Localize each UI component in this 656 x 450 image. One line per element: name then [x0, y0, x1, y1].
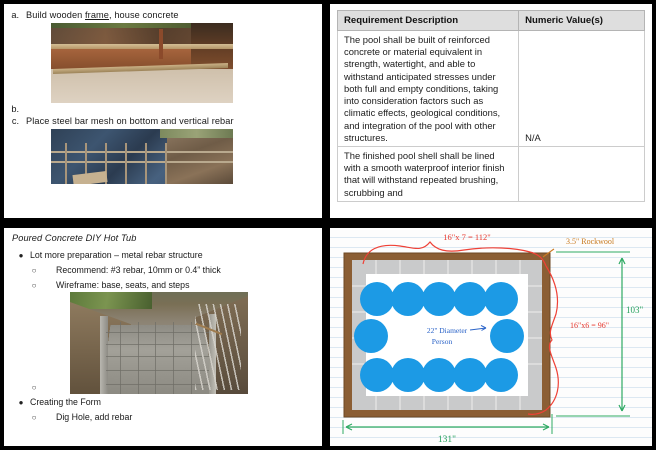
- tub-diagram-svg: 22" Diameter Person 16"x 7 = 112" 16"x6 …: [330, 228, 652, 446]
- person-circle: [453, 282, 487, 316]
- step-letter-a: a.: [4, 10, 26, 20]
- frame-underlined-word: frame: [85, 10, 109, 20]
- person-circle: [354, 319, 388, 353]
- bullet-recommend-rebar: Recommend: #3 rebar, 10mm or 0.4” thick: [12, 262, 314, 277]
- bullet-label: Wireframe: base, seats, and steps: [56, 280, 189, 290]
- requirements-table: Requirement Description Numeric Value(s)…: [337, 10, 645, 202]
- column-header-requirement-description: Requirement Description: [338, 11, 519, 31]
- person-circle: [453, 358, 487, 392]
- step-letter-b: b.: [4, 104, 26, 114]
- bullet-label: Creating the Form: [30, 397, 101, 407]
- bullet-circle-icon: [12, 281, 56, 290]
- cell-requirement-description: The pool shall be built of reinforced co…: [338, 31, 519, 147]
- rebar-wireframe-trench-photo: [70, 292, 248, 394]
- person-circle: [490, 319, 524, 353]
- bullet-creating-the-form: Creating the Form: [12, 394, 314, 409]
- cell-numeric-value: N/A: [519, 31, 645, 147]
- table-row: The pool shall be built of reinforced co…: [338, 31, 645, 147]
- horizontal-divider: [0, 218, 656, 228]
- bullet-lot-more-preparation: Lot more preparation – metal rebar struc…: [12, 247, 314, 262]
- bullet-label: Lot more preparation – metal rebar struc…: [30, 250, 203, 260]
- annotation-right-red-label: 16"x6 = 96": [570, 321, 609, 330]
- steps-slide-panel: a. Build wooden frame, house concrete b.…: [4, 4, 322, 218]
- hot-tub-slide-panel: Poured Concrete DIY Hot Tub Lot more pre…: [4, 228, 322, 446]
- person-circle: [484, 282, 518, 316]
- bullet-disc-icon: [12, 251, 30, 260]
- bullet-circle-icon: [12, 383, 56, 392]
- annotation-person-diameter-line1: 22" Diameter: [427, 326, 468, 335]
- step-text-a: Build wooden frame, house concrete: [26, 10, 322, 20]
- person-circle: [360, 282, 394, 316]
- person-circle: [391, 282, 425, 316]
- annotation-top-red-label: 16"x 7 = 112": [443, 232, 491, 242]
- step-row-a: a. Build wooden frame, house concrete: [4, 4, 322, 23]
- step-letter-c: c.: [4, 116, 26, 126]
- annotation-width-131: 131": [438, 435, 456, 445]
- bullet-circle-icon: [12, 266, 56, 275]
- person-circle: [360, 358, 394, 392]
- person-circle: [422, 358, 456, 392]
- bullet-disc-icon: [12, 398, 30, 407]
- table-row: The finished pool shell shall be lined w…: [338, 146, 645, 201]
- cell-numeric-value: [519, 146, 645, 201]
- annotation-rockwool-label: 3.5" Rockwool: [566, 237, 615, 246]
- cell-requirement-description: The finished pool shell shall be lined w…: [338, 146, 519, 201]
- step-row-b: b.: [4, 103, 322, 114]
- person-circle: [391, 358, 425, 392]
- slide-title: Poured Concrete DIY Hot Tub: [12, 233, 314, 247]
- hot-tub-layout-diagram-panel: 22" Diameter Person 16"x 7 = 112" 16"x6 …: [330, 228, 652, 446]
- step-text-c: Place steel bar mesh on bottom and verti…: [26, 116, 322, 126]
- bullet-dig-hole: Dig Hole, add rebar: [12, 409, 314, 424]
- person-circle: [422, 282, 456, 316]
- person-circle: [484, 358, 518, 392]
- annotation-person-diameter-line2: Person: [432, 337, 453, 346]
- bullet-circle-icon: [12, 413, 56, 422]
- table-header-row: Requirement Description Numeric Value(s): [338, 11, 645, 31]
- tarp-rebar-mesh-photo: [51, 129, 233, 184]
- bullet-wireframe: Wireframe: base, seats, and steps: [12, 277, 314, 292]
- requirements-table-panel: Requirement Description Numeric Value(s)…: [330, 4, 652, 218]
- annotation-height-103: 103": [626, 305, 644, 315]
- bullet-label: Dig Hole, add rebar: [56, 412, 132, 422]
- bullet-label: Recommend: #3 rebar, 10mm or 0.4” thick: [56, 265, 221, 275]
- step-row-c: c. Place steel bar mesh on bottom and ve…: [4, 114, 322, 129]
- column-header-numeric-values: Numeric Value(s): [519, 11, 645, 31]
- excavation-wooden-frame-photo: [51, 23, 233, 103]
- screenshot-canvas: a. Build wooden frame, house concrete b.…: [0, 0, 656, 450]
